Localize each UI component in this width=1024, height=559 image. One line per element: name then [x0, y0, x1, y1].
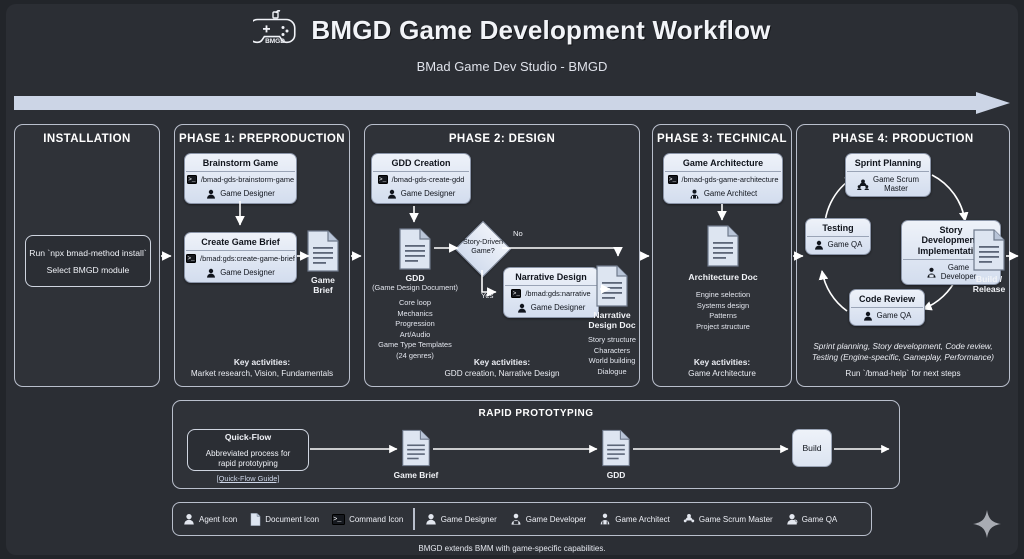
legend-label: Agent Icon — [199, 515, 237, 524]
card-brainstorm-game[interactable]: Brainstorm Game >_ /bmad-gds-brainstorm-… — [184, 153, 297, 204]
legend-label: Game Architect — [615, 515, 670, 524]
card-agent-row: Game Designer — [372, 186, 470, 203]
gdd-item-3: Art/Audio — [400, 330, 430, 339]
phase2-key-activities: Key activities: GDD creation, Narrative … — [369, 357, 635, 380]
architecture-items: Engine selection Systems design Patterns… — [663, 290, 783, 332]
flow-arrow-icon — [14, 92, 1010, 114]
installation-line-1: Run `npx bmad-method install` — [29, 248, 147, 258]
card-command-row: >_ /bmad-gds-create-gdd — [372, 172, 470, 186]
card-agent-row: Game Architect — [664, 186, 782, 203]
scrum-master-icon — [683, 513, 695, 525]
document-icon — [401, 429, 431, 472]
arch-item-2: Patterns — [709, 311, 737, 320]
developer-icon — [510, 513, 522, 525]
legend-item-document-icon: Document Icon — [250, 513, 319, 526]
card-command: /bmad-gds-brainstorm-game — [201, 175, 294, 184]
divider — [413, 508, 414, 530]
rp-build-box[interactable]: Build — [792, 429, 832, 467]
card-command-row: >_ /bmad:gds:create-game-brief — [185, 251, 296, 265]
card-game-architecture[interactable]: Game Architecture >_ /bmad-gds-game-arch… — [663, 153, 783, 204]
phase4-title: PHASE 4: PRODUCTION — [797, 133, 1009, 145]
arch-item-1: Systems design — [697, 301, 749, 310]
phase4-notes: Sprint planning, Story development, Code… — [801, 342, 1005, 364]
doc-label-build-release: Build /Release — [961, 274, 1017, 295]
doc-label-game-brief: GameBrief — [299, 275, 347, 296]
card-command: /bmad-gds-game-architecture — [682, 175, 779, 184]
card-title: GDD Creation — [372, 154, 470, 171]
legend-item-game-developer: Game Developer — [510, 513, 586, 525]
doc-label-narrative: NarrativeDesign Doc — [579, 310, 645, 331]
installation-line-2: Select BMGD module — [47, 265, 130, 275]
document-icon — [250, 513, 261, 526]
document-icon — [398, 228, 432, 275]
card-agent: Game Designer — [220, 189, 275, 198]
header: BMGD BMGD Game Development Workflow BMad… — [6, 10, 1018, 74]
legend-label: Game Scrum Master — [699, 515, 773, 524]
quickflow-title: Quick-Flow — [225, 432, 271, 442]
gdd-item-2: Progression — [395, 319, 434, 328]
legend-label: Game Developer — [526, 515, 586, 524]
diagram-canvas: BMGD BMGD Game Development Workflow BMad… — [6, 4, 1018, 555]
card-title: Sprint Planning — [846, 154, 930, 171]
card-agent: Game Architect — [704, 189, 757, 198]
phase1-key-activities: Key activities: Market research, Vision,… — [179, 357, 345, 380]
document-icon — [306, 230, 340, 277]
legend-item-command-icon: >_ Command Icon — [332, 514, 403, 525]
card-title: Brainstorm Game — [185, 154, 296, 171]
legend: Agent Icon Document Icon >_ Command Icon… — [172, 502, 872, 536]
footnote: BMGD extends BMM with game-specific capa… — [6, 544, 1018, 553]
phase3-key-activities: Key activities: Game Architecture — [657, 357, 787, 380]
legend-label: Document Icon — [265, 515, 319, 524]
rapid-prototyping-title: RAPID PROTOTYPING — [173, 408, 899, 419]
panel-phase-3: PHASE 3: TECHNICAL Game Architecture >_ … — [652, 124, 792, 387]
architect-icon — [689, 189, 700, 199]
architect-icon — [599, 513, 611, 525]
card-command: /bmad:gds:create-game-brief — [200, 254, 295, 263]
key-activities-title: Key activities: — [694, 357, 750, 367]
gdd-item-1: Mechanics — [397, 309, 432, 318]
edge-label-no: No — [513, 229, 523, 238]
agent-icon — [183, 513, 195, 525]
agent-icon — [517, 303, 527, 313]
card-command: /bmad:gds:narrative — [525, 289, 590, 298]
legend-item-agent-icon: Agent Icon — [183, 513, 237, 525]
developer-icon — [926, 267, 937, 278]
phase4-note-1: Testing (Engine-specific, Gameplay, Perf… — [812, 353, 994, 362]
doc-label-architecture: Architecture Doc — [663, 272, 783, 282]
designer-icon — [425, 513, 437, 525]
installation-title: INSTALLATION — [15, 133, 159, 145]
legend-label: Command Icon — [349, 515, 403, 524]
rp-label-game-brief: Game Brief — [376, 470, 456, 480]
legend-label: Game QA — [802, 515, 838, 524]
narrative-item-1: Characters — [594, 346, 630, 355]
narrative-item-0: Story structure — [588, 335, 636, 344]
doc-label-gdd: GDD — [375, 273, 455, 283]
agent-icon — [206, 268, 216, 278]
card-command-row: >_ /bmad:gds:narrative — [504, 286, 598, 300]
document-icon — [972, 229, 1006, 276]
card-agent: Game Designer — [220, 268, 275, 277]
installation-box: Run `npx bmad-method install` Select BMG… — [25, 235, 151, 287]
card-title: Narrative Design — [504, 268, 598, 285]
phase4-note-0: Sprint planning, Story development, Code… — [813, 342, 992, 351]
key-activities-title: Key activities: — [234, 357, 290, 367]
key-activities-text: GDD creation, Narrative Design — [444, 369, 559, 378]
panel-phase-1: PHASE 1: PREPRODUCTION Brainstorm Game >… — [174, 124, 350, 387]
command-icon: >_ — [511, 289, 521, 298]
edge-label-yes: Yes — [481, 291, 493, 300]
card-command-row: >_ /bmad-gds-brainstorm-game — [185, 172, 296, 186]
card-testing[interactable]: Testing Game QA — [805, 218, 871, 255]
card-agent-row: Game Designer — [185, 186, 296, 203]
qa-icon — [863, 311, 873, 321]
phase1-title: PHASE 1: PREPRODUCTION — [175, 133, 349, 145]
phase4-run-note: Run `/bmad-help` for next steps — [801, 369, 1005, 380]
quickflow-desc: Abbreviated process forrapid prototyping — [206, 449, 291, 469]
rp-label-gdd: GDD — [576, 470, 656, 480]
card-command-row: >_ /bmad-gds-game-architecture — [664, 172, 782, 186]
card-agent: Game ScrumMaster — [873, 175, 919, 193]
phase3-title: PHASE 3: TECHNICAL — [653, 133, 791, 145]
gdd-item-0: Core loop — [399, 298, 431, 307]
command-icon: >_ — [668, 175, 678, 184]
card-create-game-brief[interactable]: Create Game Brief >_ /bmad:gds:create-ga… — [184, 232, 297, 283]
card-agent-row: Game QA — [806, 237, 870, 254]
page-title: BMGD Game Development Workflow — [311, 15, 770, 46]
command-icon: >_ — [186, 254, 196, 263]
quickflow-guide-link[interactable]: [Quick-Flow Guide] — [187, 474, 309, 483]
card-title: Game Architecture — [664, 154, 782, 171]
card-sprint-planning[interactable]: Sprint Planning Game ScrumMaster — [845, 153, 931, 197]
legend-label: Game Designer — [441, 515, 497, 524]
qa-icon — [786, 513, 798, 525]
quickflow-box: Quick-Flow Abbreviated process forrapid … — [187, 429, 309, 471]
phase2-title: PHASE 2: DESIGN — [365, 133, 639, 145]
card-agent-row: Game QA — [850, 308, 924, 325]
card-command: /bmad-gds-create-gdd — [392, 175, 465, 184]
page-subtitle: BMad Game Dev Studio - BMGD — [6, 59, 1018, 74]
command-icon: >_ — [332, 514, 345, 525]
panel-rapid-prototyping: RAPID PROTOTYPING Quick-Flow Abbreviated… — [172, 400, 900, 489]
command-icon: >_ — [187, 175, 197, 184]
command-icon: >_ — [378, 175, 388, 184]
rp-label-build: Build — [802, 442, 821, 455]
panel-phase-2: PHASE 2: DESIGN GDD Creation >_ /bmad-gd… — [364, 124, 640, 387]
sparkle-icon — [972, 509, 1002, 539]
document-icon — [706, 225, 740, 272]
legend-item-game-designer: Game Designer — [425, 513, 497, 525]
key-activities-text: Game Architecture — [688, 369, 756, 378]
agent-icon — [206, 189, 216, 199]
card-gdd-creation[interactable]: GDD Creation >_ /bmad-gds-create-gdd Gam… — [371, 153, 471, 204]
logo-label: BMGD — [265, 38, 285, 45]
card-title: Create Game Brief — [185, 233, 296, 250]
panel-installation: INSTALLATION Run `npx bmad-method instal… — [14, 124, 160, 387]
card-code-review[interactable]: Code Review Game QA — [849, 289, 925, 326]
scrum-master-icon — [857, 179, 869, 190]
card-agent: Game Designer — [401, 189, 456, 198]
document-icon — [595, 265, 629, 312]
agent-icon — [387, 189, 397, 199]
gdd-item-4: Game Type Templates — [378, 340, 452, 349]
card-agent-row: Game ScrumMaster — [846, 172, 930, 196]
key-activities-text: Market research, Vision, Fundamentals — [191, 369, 333, 378]
gamepad-icon: BMGD — [253, 10, 299, 50]
card-agent: Game Designer — [531, 303, 586, 312]
card-agent: Game QA — [828, 240, 863, 249]
legend-item-game-architect: Game Architect — [599, 513, 670, 525]
card-agent: Game QA — [877, 311, 912, 320]
legend-item-game-qa: Game QA — [786, 513, 838, 525]
arch-item-0: Engine selection — [696, 290, 750, 299]
key-activities-title: Key activities: — [474, 357, 530, 367]
card-agent-row: Game Designer — [185, 265, 296, 282]
gdd-items: Core loop Mechanics Progression Art/Audi… — [365, 298, 465, 361]
doc-sublabel-gdd: (Game Design Document) — [363, 283, 467, 294]
document-icon — [601, 429, 631, 472]
card-title: Testing — [806, 219, 870, 236]
arch-item-3: Project structure — [696, 322, 750, 331]
decision-label: Story-DrivenGame? — [457, 238, 509, 255]
legend-item-game-scrum-master: Game Scrum Master — [683, 513, 773, 525]
qa-icon — [814, 240, 824, 250]
card-title: Code Review — [850, 290, 924, 307]
